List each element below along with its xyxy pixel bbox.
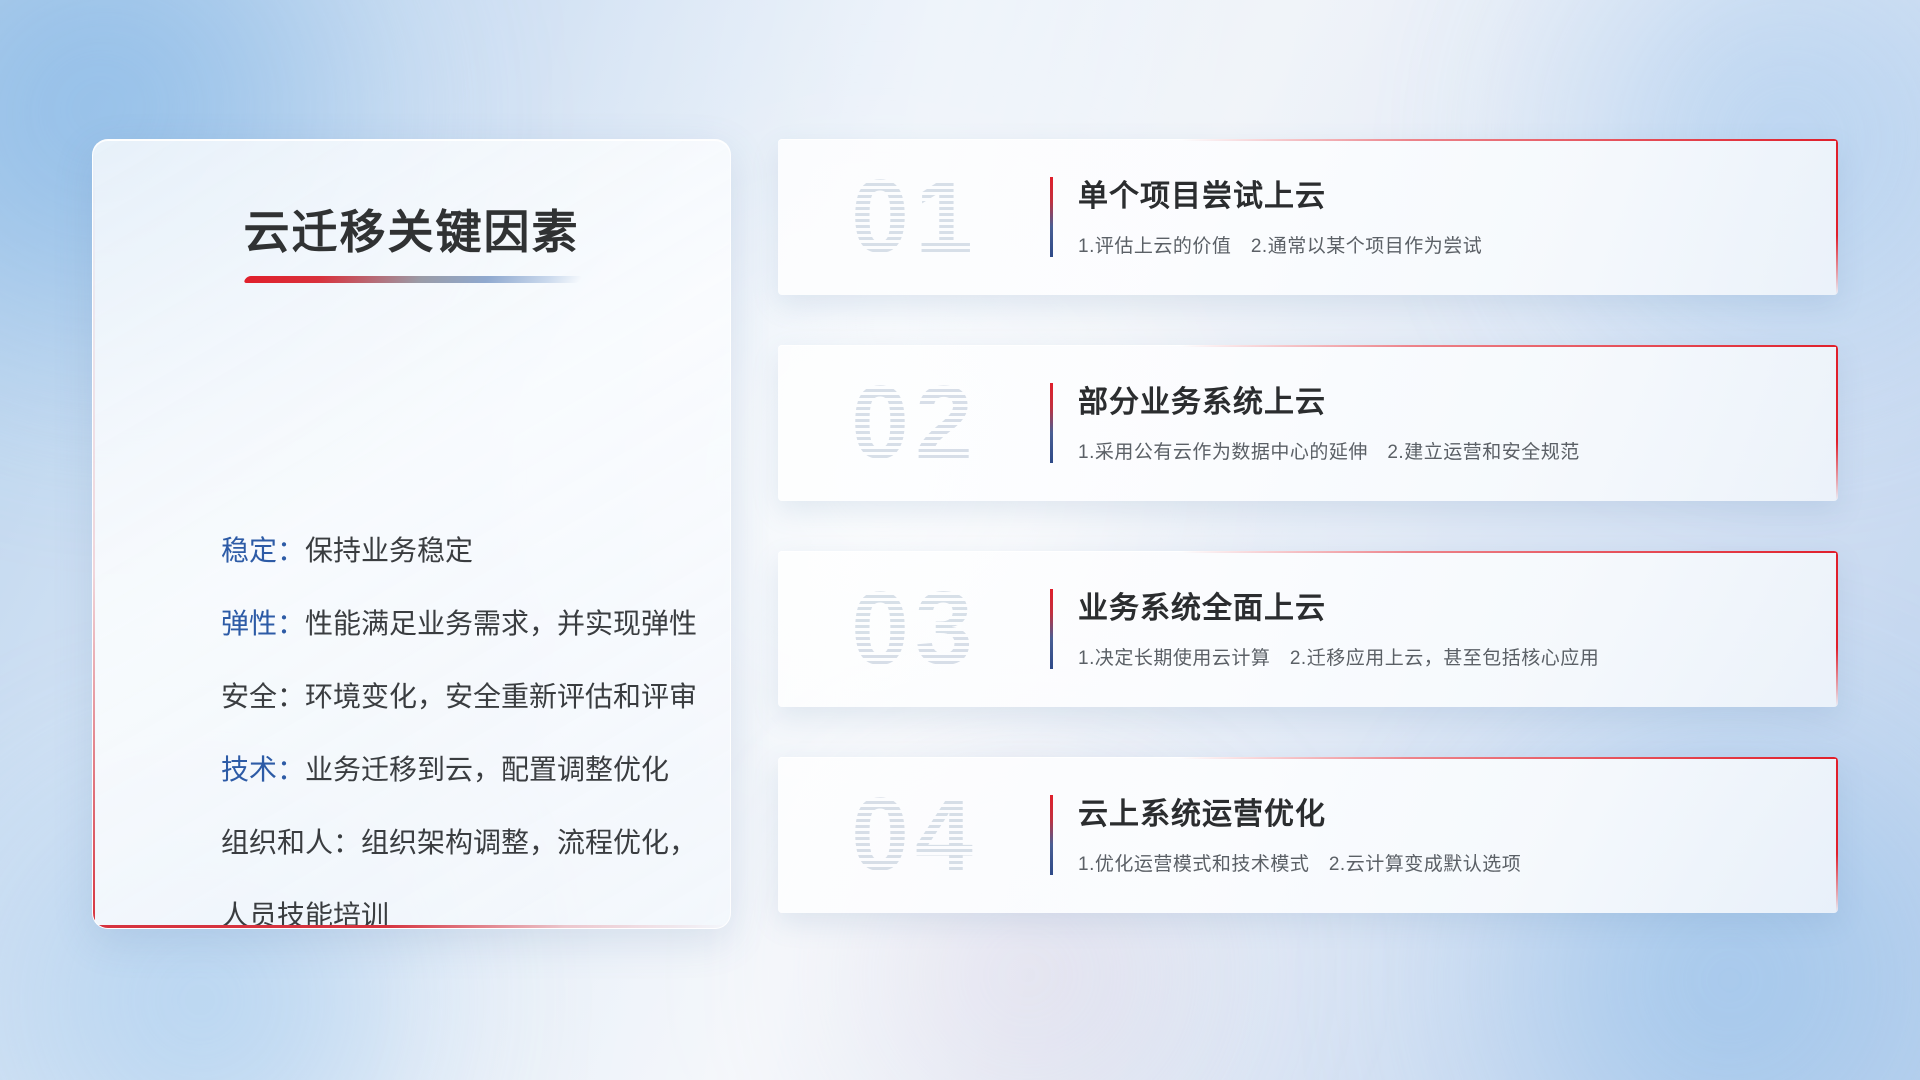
stage-description: 1.决定长期使用云计算 2.迁移应用上云，甚至包括核心应用 [1078,643,1798,670]
list-item: 技术：业务迁移到云，配置调整优化 [221,733,694,806]
stage-number: 04 [800,771,1030,899]
stage-accent-bar [1050,383,1053,463]
stage-number: 03 [800,565,1030,693]
stage-title: 云上系统运营优化 [1078,789,1798,833]
list-item-text: 性能满足业务需求，并实现弹性 [305,608,697,639]
stage-card-body: 云上系统运营优化 1.优化运营模式和技术模式 2.云计算变成默认选项 [1078,789,1798,876]
list-item-text: 组织架构调整，流程优化， [361,827,697,858]
stage-accent-bar [1050,795,1053,875]
panel-title: 云迁移关键因素 [93,196,730,262]
stage-cards-list: 01 单个项目尝试上云 1.评估上云的价值 2.通常以某个项目作为尝试 02 部… [778,139,1838,963]
list-item-label: 稳定： [221,535,305,566]
stage-description: 1.评估上云的价值 2.通常以某个项目作为尝试 [1078,231,1798,258]
title-underline-accent [243,276,583,283]
list-item-text: 保持业务稳定 [305,535,473,566]
key-factors-list: 稳定：保持业务稳定 弹性：性能满足业务需求，并实现弹性 安全：环境变化，安全重新… [221,514,694,929]
list-item-text: 环境变化，安全重新评估和评审 [305,681,697,712]
list-item-label: 安全： [221,681,305,712]
list-item: 稳定：保持业务稳定 [221,514,694,587]
stage-title: 部分业务系统上云 [1078,377,1798,421]
stage-title: 单个项目尝试上云 [1078,171,1798,215]
stage-card[interactable]: 01 单个项目尝试上云 1.评估上云的价值 2.通常以某个项目作为尝试 [778,139,1838,295]
stage-card[interactable]: 03 业务系统全面上云 1.决定长期使用云计算 2.迁移应用上云，甚至包括核心应… [778,551,1838,707]
stage-number: 01 [800,153,1030,281]
stage-card[interactable]: 02 部分业务系统上云 1.采用公有云作为数据中心的延伸 2.建立运营和安全规范 [778,345,1838,501]
list-item-label: 技术： [221,754,305,785]
list-item-text: 业务迁移到云，配置调整优化 [305,754,669,785]
key-factors-panel: 云迁移关键因素 稳定：保持业务稳定 弹性：性能满足业务需求，并实现弹性 安全：环… [92,139,731,929]
stage-number: 02 [800,359,1030,487]
stage-accent-bar [1050,177,1053,257]
stage-accent-bar [1050,589,1053,669]
list-item: 安全：环境变化，安全重新评估和评审 [221,660,694,733]
list-item: 组织和人：组织架构调整，流程优化， [221,806,694,879]
stage-card-body: 单个项目尝试上云 1.评估上云的价值 2.通常以某个项目作为尝试 [1078,171,1798,258]
stage-card-body: 业务系统全面上云 1.决定长期使用云计算 2.迁移应用上云，甚至包括核心应用 [1078,583,1798,670]
list-item-text: 人员技能培训 [221,900,389,929]
stage-card[interactable]: 04 云上系统运营优化 1.优化运营模式和技术模式 2.云计算变成默认选项 [778,757,1838,913]
stage-description: 1.优化运营模式和技术模式 2.云计算变成默认选项 [1078,849,1798,876]
list-item-label: 组织和人： [221,827,361,858]
list-item: 弹性：性能满足业务需求，并实现弹性 [221,587,694,660]
stage-title: 业务系统全面上云 [1078,583,1798,627]
list-item-label: 弹性： [221,608,305,639]
stage-description: 1.采用公有云作为数据中心的延伸 2.建立运营和安全规范 [1078,437,1798,464]
list-item: 人员技能培训 [221,879,694,929]
stage-card-body: 部分业务系统上云 1.采用公有云作为数据中心的延伸 2.建立运营和安全规范 [1078,377,1798,464]
